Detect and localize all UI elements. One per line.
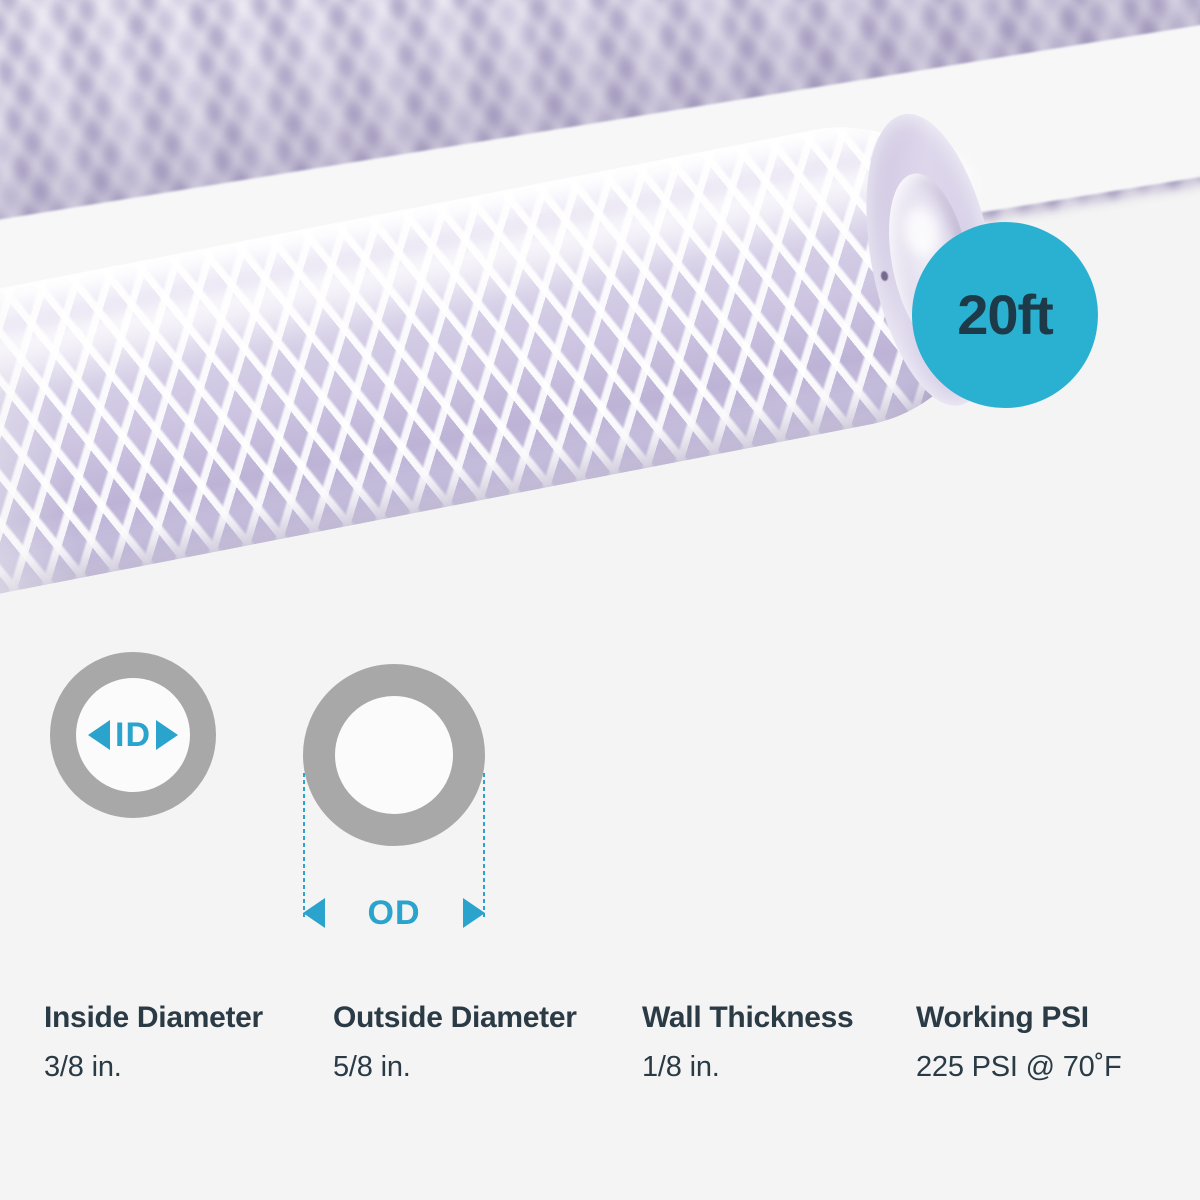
arrow-left-icon — [88, 720, 110, 750]
arrow-right-icon — [463, 898, 485, 928]
spec-working-psi: Working PSI 225 PSI @ 70˚F — [916, 1000, 1122, 1085]
inside-diameter-label: ID — [115, 718, 151, 752]
spec-value: 3/8 in. — [44, 1050, 263, 1085]
spec-label: Working PSI — [916, 1000, 1122, 1036]
spec-label: Outside Diameter — [333, 1000, 577, 1036]
specification-row: Inside Diameter 3/8 in. Outside Diameter… — [0, 1000, 1200, 1120]
spec-label: Inside Diameter — [44, 1000, 263, 1036]
spec-wall-thickness: Wall Thickness 1/8 in. — [642, 1000, 853, 1085]
arrow-right-icon — [156, 720, 178, 750]
spec-label: Wall Thickness — [642, 1000, 853, 1036]
spec-value: 225 PSI @ 70˚F — [916, 1050, 1122, 1085]
spec-outside-diameter: Outside Diameter 5/8 in. — [333, 1000, 577, 1085]
product-image: 20ft ID OD Inside Diameter 3/8 in. Outsi… — [0, 0, 1200, 1200]
arrow-left-icon — [303, 898, 325, 928]
spec-inside-diameter: Inside Diameter 3/8 in. — [44, 1000, 263, 1085]
inside-diameter-dimension: ID — [50, 652, 216, 818]
length-badge: 20ft — [912, 222, 1098, 408]
spec-value: 5/8 in. — [333, 1050, 577, 1085]
outside-diameter-label: OD — [368, 896, 421, 930]
outside-diameter-dimension: OD — [303, 893, 485, 933]
spec-value: 1/8 in. — [642, 1050, 853, 1085]
length-badge-label: 20ft — [957, 287, 1053, 343]
outside-diameter-ring — [303, 664, 485, 846]
